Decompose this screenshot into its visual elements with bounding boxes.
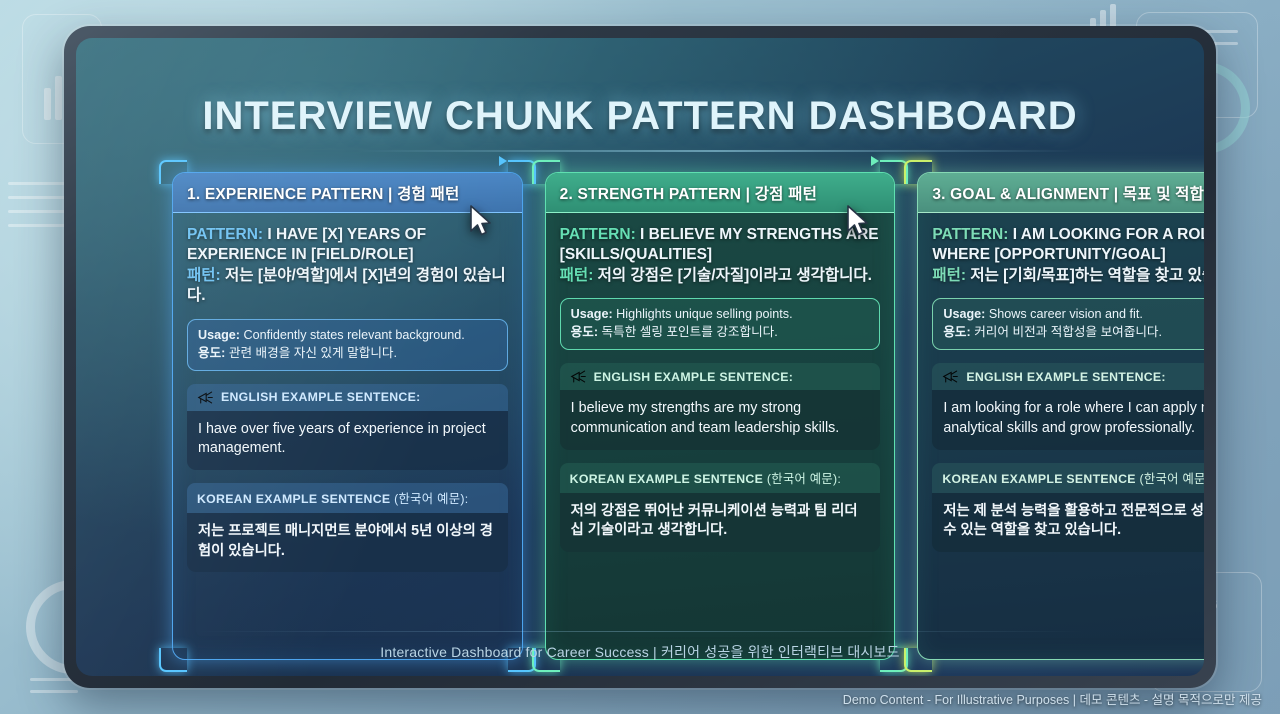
english-example-box: I believe my strengths are my strong com… bbox=[560, 390, 881, 449]
usage-en-value: Confidently states relevant background. bbox=[244, 328, 465, 342]
usage-ko-line: 용도: 커리어 비전과 적합성을 보여줍니다. bbox=[943, 324, 1204, 342]
korean-example-header: KOREAN EXAMPLE SENTENCE (한국어 예문): bbox=[560, 463, 881, 493]
pattern-ko-value: 저의 강점은 [기술/자질]이라고 생각합니다. bbox=[598, 267, 872, 284]
usage-ko-value: 커리어 비전과 적합성을 보여줍니다. bbox=[974, 325, 1162, 339]
pattern-en-key: PATTERN: bbox=[932, 226, 1008, 243]
usage-en-key: Usage: bbox=[943, 307, 985, 321]
pattern-card-strength[interactable]: 2. STRENGTH PATTERN | 강점 패턴 PATTERN: I B… bbox=[545, 172, 896, 660]
english-example-header: ENGLISH EXAMPLE SENTENCE: bbox=[560, 363, 881, 390]
usage-ko-key: 용도: bbox=[571, 325, 598, 339]
usage-box: Usage: Shows career vision and fit. 용도: … bbox=[932, 298, 1204, 350]
korean-example-box: 저의 강점은 뛰어난 커뮤니케이션 능력과 팀 리더십 기술이라고 생각합니다. bbox=[560, 493, 881, 552]
card-header-goal-alignment[interactable]: 3. GOAL & ALIGNMENT | 목표 및 적합성 패턴 bbox=[918, 173, 1204, 213]
usage-ko-key: 용도: bbox=[943, 325, 970, 339]
english-example-label: ENGLISH EXAMPLE SENTENCE: bbox=[594, 370, 794, 384]
usage-en-value: Highlights unique selling points. bbox=[616, 307, 792, 321]
english-example-box: I have over five years of experience in … bbox=[187, 411, 508, 470]
korean-example-label: KOREAN EXAMPLE SENTENCE (한국어 예문): bbox=[197, 489, 468, 507]
english-example-section: ENGLISH EXAMPLE SENTENCE: I believe my s… bbox=[560, 363, 881, 449]
page-title: INTERVIEW CHUNK PATTERN DASHBOARD bbox=[76, 94, 1204, 139]
korean-example-label: KOREAN EXAMPLE SENTENCE (한국어 예문): bbox=[942, 469, 1204, 487]
pattern-card-goal-alignment[interactable]: 3. GOAL & ALIGNMENT | 목표 및 적합성 패턴 PATTER… bbox=[917, 172, 1204, 660]
pattern-text: PATTERN: I HAVE [X] YEARS OF EXPERIENCE … bbox=[187, 225, 508, 307]
megaphone-speech-icon bbox=[570, 369, 587, 384]
pattern-ko-value: 저는 [분야/역할]에서 [X]년의 경험이 있습니다. bbox=[187, 267, 506, 304]
english-example-header: ENGLISH EXAMPLE SENTENCE: bbox=[187, 384, 508, 411]
play-triangle-icon bbox=[499, 156, 507, 166]
usage-en-line: Usage: Confidently states relevant backg… bbox=[198, 327, 497, 345]
usage-en-line: Usage: Shows career vision and fit. bbox=[943, 306, 1204, 324]
usage-ko-value: 독특한 셀링 포인트를 강조합니다. bbox=[602, 325, 778, 339]
korean-example-header: KOREAN EXAMPLE SENTENCE (한국어 예문): bbox=[187, 483, 508, 513]
usage-box: Usage: Confidently states relevant backg… bbox=[187, 319, 508, 371]
pattern-card-experience[interactable]: 1. EXPERIENCE PATTERN | 경험 패턴 PATTERN: I… bbox=[172, 172, 523, 660]
footer-caption: Interactive Dashboard for Career Success… bbox=[76, 642, 1204, 662]
card-header-label: 3. GOAL & ALIGNMENT | 목표 및 적합성 패턴 bbox=[932, 182, 1204, 204]
english-example-label: ENGLISH EXAMPLE SENTENCE: bbox=[966, 370, 1166, 384]
pattern-text: PATTERN: I BELIEVE MY STRENGTHS ARE [SKI… bbox=[560, 225, 881, 286]
pattern-ko-key: 패턴: bbox=[560, 267, 594, 284]
pattern-ko-key: 패턴: bbox=[187, 267, 221, 284]
korean-example-label: KOREAN EXAMPLE SENTENCE (한국어 예문): bbox=[570, 469, 841, 487]
pattern-text: PATTERN: I AM LOOKING FOR A ROLE WHERE [… bbox=[932, 225, 1204, 286]
korean-example-box: 저는 프로젝트 매니지먼트 분야에서 5년 이상의 경험이 있습니다. bbox=[187, 513, 508, 572]
play-triangle-icon bbox=[871, 156, 879, 166]
usage-en-line: Usage: Highlights unique selling points. bbox=[571, 306, 870, 324]
korean-example-text: 저는 프로젝트 매니지먼트 분야에서 5년 이상의 경험이 있습니다. bbox=[198, 522, 497, 561]
english-example-label: ENGLISH EXAMPLE SENTENCE: bbox=[221, 390, 421, 404]
pattern-cards-row: 1. EXPERIENCE PATTERN | 경험 패턴 PATTERN: I… bbox=[172, 172, 1204, 660]
usage-ko-value: 관련 배경을 자신 있게 말합니다. bbox=[229, 346, 397, 360]
usage-box: Usage: Highlights unique selling points.… bbox=[560, 298, 881, 350]
english-example-box: I am looking for a role where I can appl… bbox=[932, 390, 1204, 449]
laptop-frame: INTERVIEW CHUNK PATTERN DASHBOARD 1. EXP… bbox=[64, 26, 1216, 688]
pattern-ko-value: 저는 [기회/목표]하는 역할을 찾고 있습니다. bbox=[970, 267, 1204, 284]
korean-example-section: KOREAN EXAMPLE SENTENCE (한국어 예문): 저는 제 분… bbox=[932, 463, 1204, 552]
pattern-en-key: PATTERN: bbox=[187, 226, 263, 243]
usage-ko-key: 용도: bbox=[198, 346, 225, 360]
korean-example-section: KOREAN EXAMPLE SENTENCE (한국어 예문): 저의 강점은… bbox=[560, 463, 881, 552]
megaphone-speech-icon bbox=[197, 390, 214, 405]
usage-en-key: Usage: bbox=[198, 328, 240, 342]
pattern-en-key: PATTERN: bbox=[560, 226, 636, 243]
korean-example-header: KOREAN EXAMPLE SENTENCE (한국어 예문): bbox=[932, 463, 1204, 493]
usage-en-key: Usage: bbox=[571, 307, 613, 321]
card-header-label: 2. STRENGTH PATTERN | 강점 패턴 bbox=[560, 182, 817, 204]
title-divider bbox=[356, 150, 1076, 152]
english-example-text: I am looking for a role where I can appl… bbox=[943, 399, 1204, 438]
english-example-text: I have over five years of experience in … bbox=[198, 420, 497, 459]
megaphone-speech-icon bbox=[942, 369, 959, 384]
disclaimer-text: Demo Content - For Illustrative Purposes… bbox=[843, 689, 1262, 708]
english-example-section: ENGLISH EXAMPLE SENTENCE: I am looking f… bbox=[932, 363, 1204, 449]
dashboard-screen: INTERVIEW CHUNK PATTERN DASHBOARD 1. EXP… bbox=[76, 38, 1204, 676]
korean-example-text: 저의 강점은 뛰어난 커뮤니케이션 능력과 팀 리더십 기술이라고 생각합니다. bbox=[571, 502, 870, 541]
card-header-experience[interactable]: 1. EXPERIENCE PATTERN | 경험 패턴 bbox=[173, 173, 522, 213]
korean-example-box: 저는 제 분석 능력을 활용하고 전문적으로 성장할 수 있는 역할을 찾고 있… bbox=[932, 493, 1204, 552]
english-example-header: ENGLISH EXAMPLE SENTENCE: bbox=[932, 363, 1204, 390]
card-header-strength[interactable]: 2. STRENGTH PATTERN | 강점 패턴 bbox=[546, 173, 895, 213]
footer-divider bbox=[196, 631, 1084, 632]
pattern-ko-key: 패턴: bbox=[932, 267, 966, 284]
usage-en-value: Shows career vision and fit. bbox=[989, 307, 1143, 321]
korean-example-section: KOREAN EXAMPLE SENTENCE (한국어 예문): 저는 프로젝… bbox=[187, 483, 508, 572]
usage-ko-line: 용도: 관련 배경을 자신 있게 말합니다. bbox=[198, 345, 497, 363]
english-example-section: ENGLISH EXAMPLE SENTENCE: I have over fi… bbox=[187, 384, 508, 470]
card-header-label: 1. EXPERIENCE PATTERN | 경험 패턴 bbox=[187, 182, 459, 204]
english-example-text: I believe my strengths are my strong com… bbox=[571, 399, 870, 438]
usage-ko-line: 용도: 독특한 셀링 포인트를 강조합니다. bbox=[571, 324, 870, 342]
korean-example-text: 저는 제 분석 능력을 활용하고 전문적으로 성장할 수 있는 역할을 찾고 있… bbox=[943, 502, 1204, 541]
